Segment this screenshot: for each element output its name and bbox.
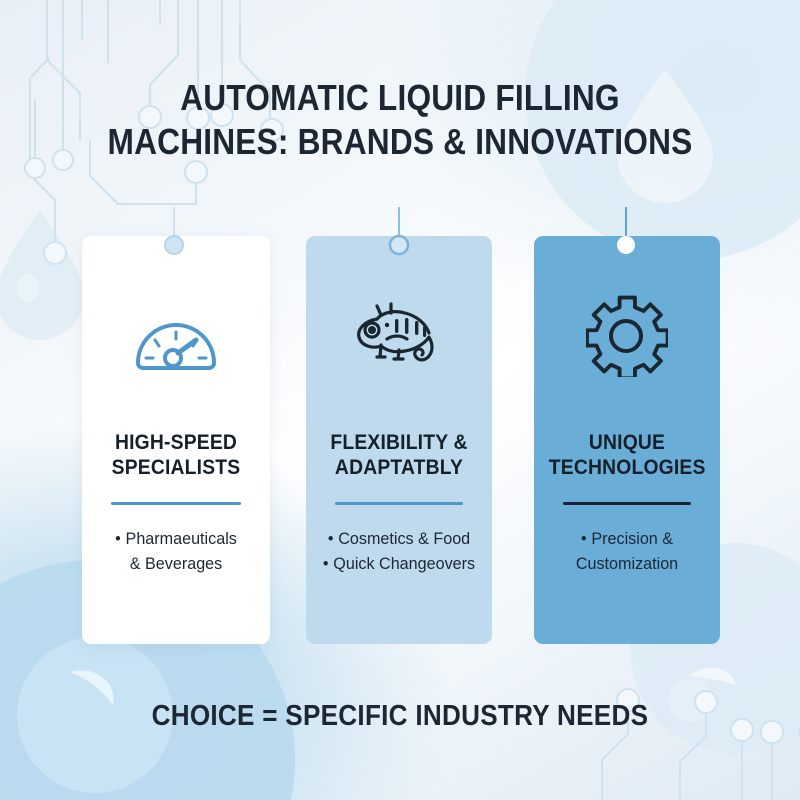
card-heading-line-2: TECHNOLOGIES [549,455,705,480]
card-heading-line-1: HIGH-SPEED [97,430,255,455]
card-divider [111,502,241,505]
connector-node-0 [165,236,183,254]
footer-statement: CHOICE = SPECIFIC INDUSTRY NEEDS [0,700,800,733]
card-heading-line-2: SPECIALISTS [97,455,255,480]
list-item: Precision & [548,527,706,550]
connector-node-2 [617,236,635,254]
card-bullet-list: Cosmetics & Food Quick Changeovers [306,527,492,575]
list-item: Cosmetics & Food [320,527,478,550]
connector-node-1 [390,236,408,254]
speedometer-icon [82,290,270,382]
title-line-2: MACHINES: BRANDS & INNOVATIONS [48,120,752,164]
list-item: Quick Changeovers [320,552,478,575]
page-title: AUTOMATIC LIQUID FILLING MACHINES: BRAND… [0,76,800,164]
list-item: Customization [548,552,706,575]
chameleon-icon [306,290,492,382]
card-divider [335,502,463,505]
card-divider [563,502,691,505]
footer-text: CHOICE = SPECIFIC INDUSTRY NEEDS [152,700,649,733]
card-bullet-list: Pharmaeuticals & Beverages [82,527,270,575]
card-bullet-list: Precision & Customization [534,527,720,575]
card-heading-line-1: UNIQUE [549,430,705,455]
title-line-1: AUTOMATIC LIQUID FILLING [48,76,752,120]
card-heading-line-1: FLEXIBILITY & [321,430,477,455]
card-heading-line-2: ADAPTATBLY [321,455,477,480]
gear-icon [534,290,720,382]
list-item: & Beverages [96,552,256,575]
list-item: Pharmaeuticals [96,527,256,550]
card-heading: HIGH-SPEED SPECIALISTS [90,430,263,480]
card-heading: UNIQUE TECHNOLOGIES [541,430,712,480]
card-heading: FLEXIBILITY & ADAPTATBLY [313,430,484,480]
